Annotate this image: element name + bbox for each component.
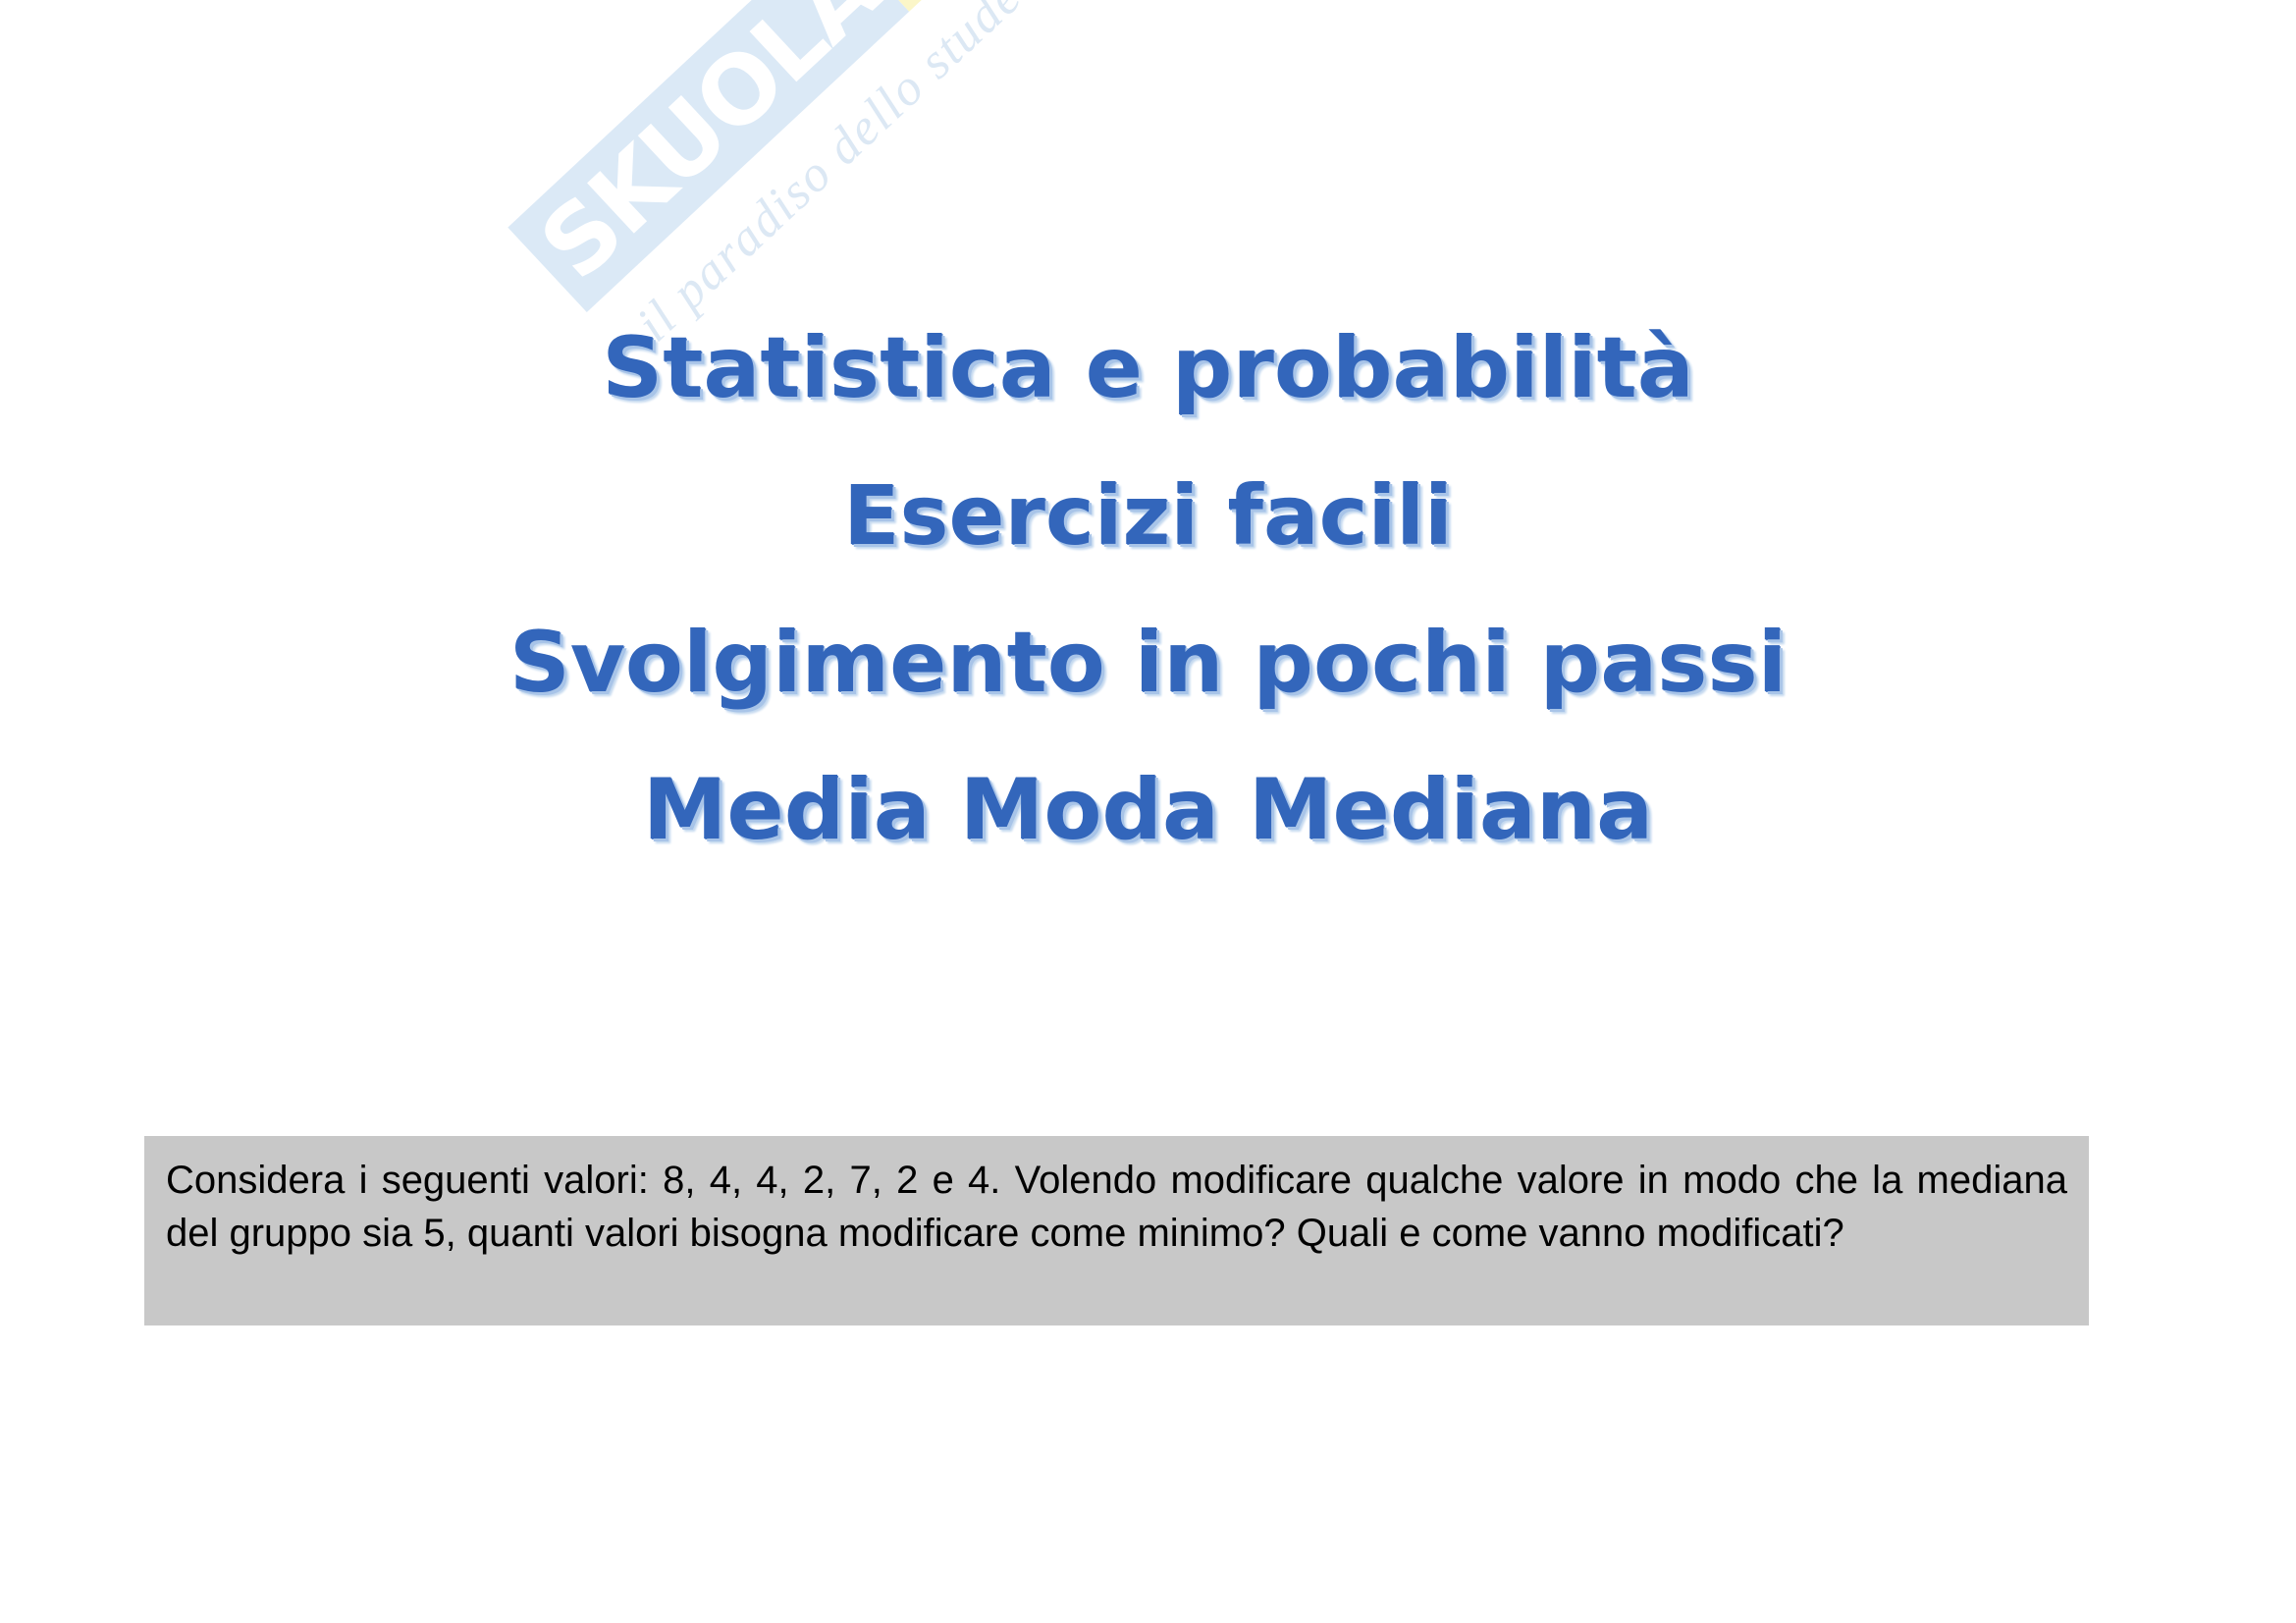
question-text: Considera i seguenti valori: 8, 4, 4, 2,… (166, 1154, 2067, 1260)
question-box: Considera i seguenti valori: 8, 4, 4, 2,… (144, 1136, 2089, 1325)
watermark-brand-suffix: .net (830, 0, 1043, 12)
watermark-logo: SKUOLA .net (507, 0, 960, 312)
watermark-brand-text: SKUOLA (507, 0, 909, 312)
title-line-1: Statistica e probabilità (0, 295, 2296, 442)
title-line-2: Esercizi facili (0, 442, 2296, 589)
slide-page: SKUOLA .net il paradiso dello studente S… (0, 0, 2296, 1623)
title-line-3: Svolgimento in pochi passi (0, 589, 2296, 736)
title-block: Statistica e probabilità Esercizi facili… (0, 295, 2296, 884)
title-line-4: Media Moda Mediana (0, 736, 2296, 884)
